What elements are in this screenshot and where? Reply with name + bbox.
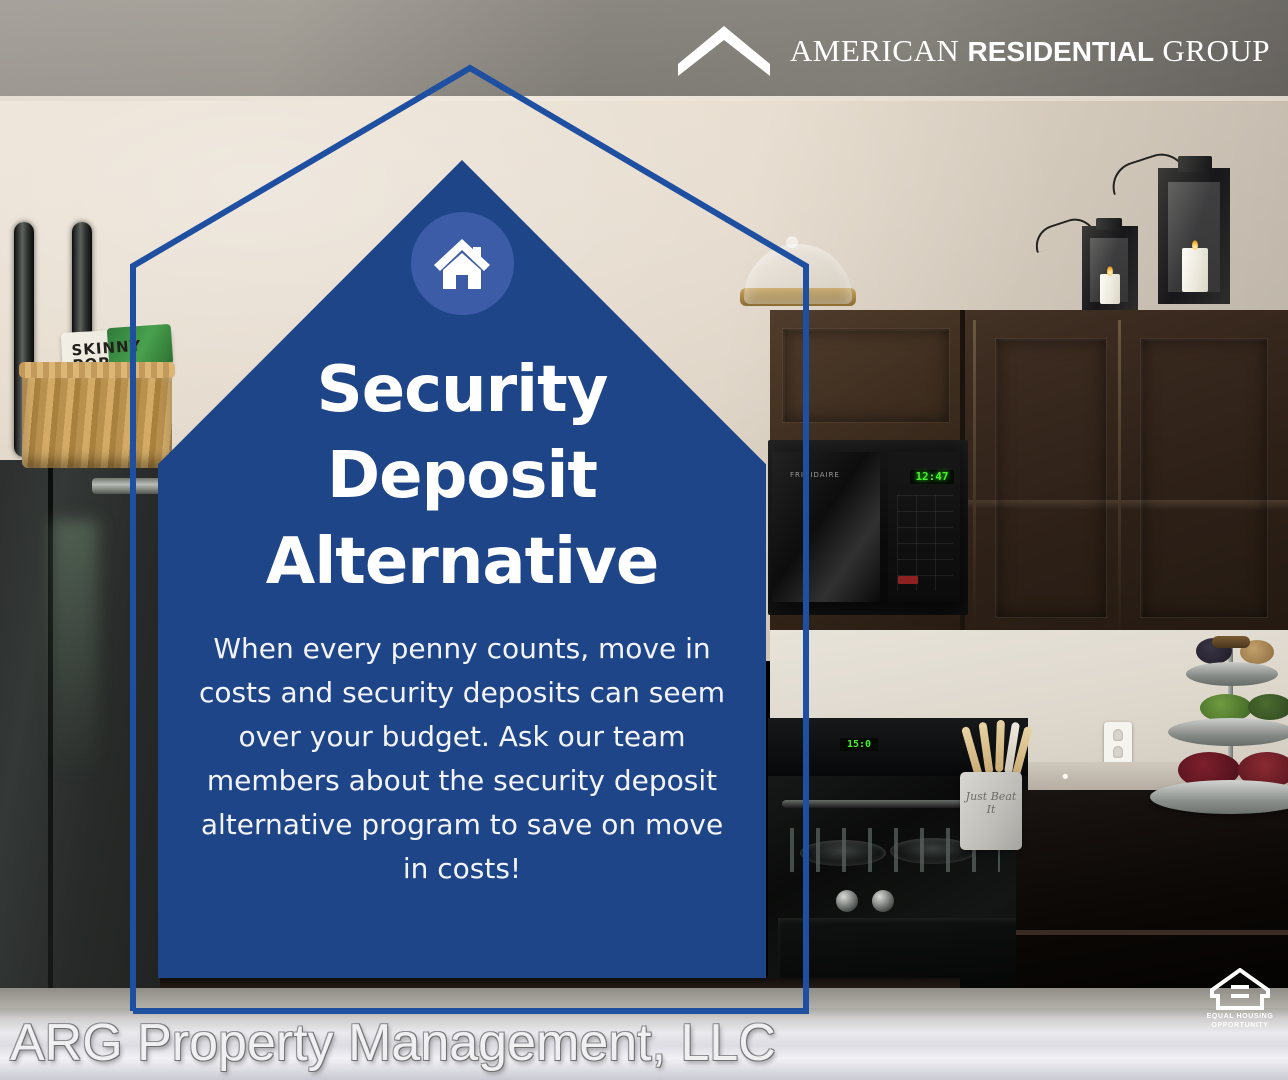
equal-housing-logo: EQUAL HOUSING OPPORTUNITY (1204, 968, 1276, 1034)
tiered-tray-handle (1212, 636, 1250, 648)
wall-outlet (1104, 722, 1132, 766)
brand-bold: RESIDENTIAL (967, 36, 1154, 67)
equal-housing-line-2: OPPORTUNITY (1207, 1021, 1274, 1030)
tiered-tray-middle (1168, 718, 1288, 746)
microwave-display: 12:47 (910, 470, 954, 484)
candle-flame-large (1192, 240, 1198, 250)
house-badge-content: Security Deposit Alternative When every … (158, 160, 766, 978)
brand-logo-text: AMERICAN RESIDENTIAL GROUP (790, 33, 1270, 69)
equal-housing-text: EQUAL HOUSING OPPORTUNITY (1207, 1012, 1274, 1030)
range-display-value: 15:0 (840, 738, 878, 751)
equal-housing-line-1: EQUAL HOUSING (1207, 1012, 1274, 1021)
brand-logo[interactable]: AMERICAN RESIDENTIAL GROUP (676, 24, 1270, 78)
badge-title-line-2: Deposit (182, 433, 742, 519)
candle-large (1182, 248, 1208, 292)
candle-small (1100, 274, 1120, 304)
cabinet-seam-1 (973, 320, 976, 630)
lower-cabinet-seam (1016, 930, 1288, 935)
microwave-brand: FRIGIDAIRE (790, 472, 840, 479)
candle-flame-small (1107, 266, 1113, 276)
lantern-small-cap (1096, 218, 1122, 230)
range-display: 15:0 (840, 738, 878, 751)
microwave-display-value: 12:47 (910, 470, 954, 484)
cloche-knob (786, 236, 798, 248)
range-knob-2 (872, 890, 894, 912)
lower-cabinetry (1016, 790, 1288, 990)
cabinet-panel-3 (1140, 338, 1268, 618)
cabinet-panel-2 (995, 338, 1107, 618)
wicker-basket (22, 368, 172, 468)
produce-4 (1248, 694, 1288, 720)
utensil-crock-label: Just Beat It (962, 790, 1020, 816)
chevron-roof-icon (676, 24, 772, 78)
badge-title: Security Deposit Alternative (182, 347, 742, 605)
badge-title-line-3: Alternative (182, 519, 742, 605)
brand-prefix: AMERICAN (790, 33, 968, 68)
footer-company-name: ARG Property Management, LLC (10, 1014, 776, 1072)
brand-suffix: GROUP (1154, 33, 1270, 68)
tiered-tray-top (1186, 662, 1278, 686)
house-icon (431, 236, 493, 292)
badge-title-line-1: Security (182, 347, 742, 433)
island-counter-edge (0, 988, 1288, 1010)
cabinet-panel-1 (782, 328, 950, 423)
refrigerator-highlight (52, 520, 98, 780)
microwave-stop-key (898, 576, 918, 584)
house-icon-circle (411, 212, 514, 315)
badge-body-text: When every penny counts, move in costs a… (189, 627, 735, 891)
lantern-large-cap (1178, 156, 1212, 172)
range-knob-1 (836, 890, 858, 912)
cabinet-seam-2 (1118, 320, 1121, 630)
poster-canvas: SKINNY POP FRIGIDAIRE 12:47 (0, 0, 1288, 1080)
equal-housing-opportunity-icon (1210, 968, 1270, 1010)
